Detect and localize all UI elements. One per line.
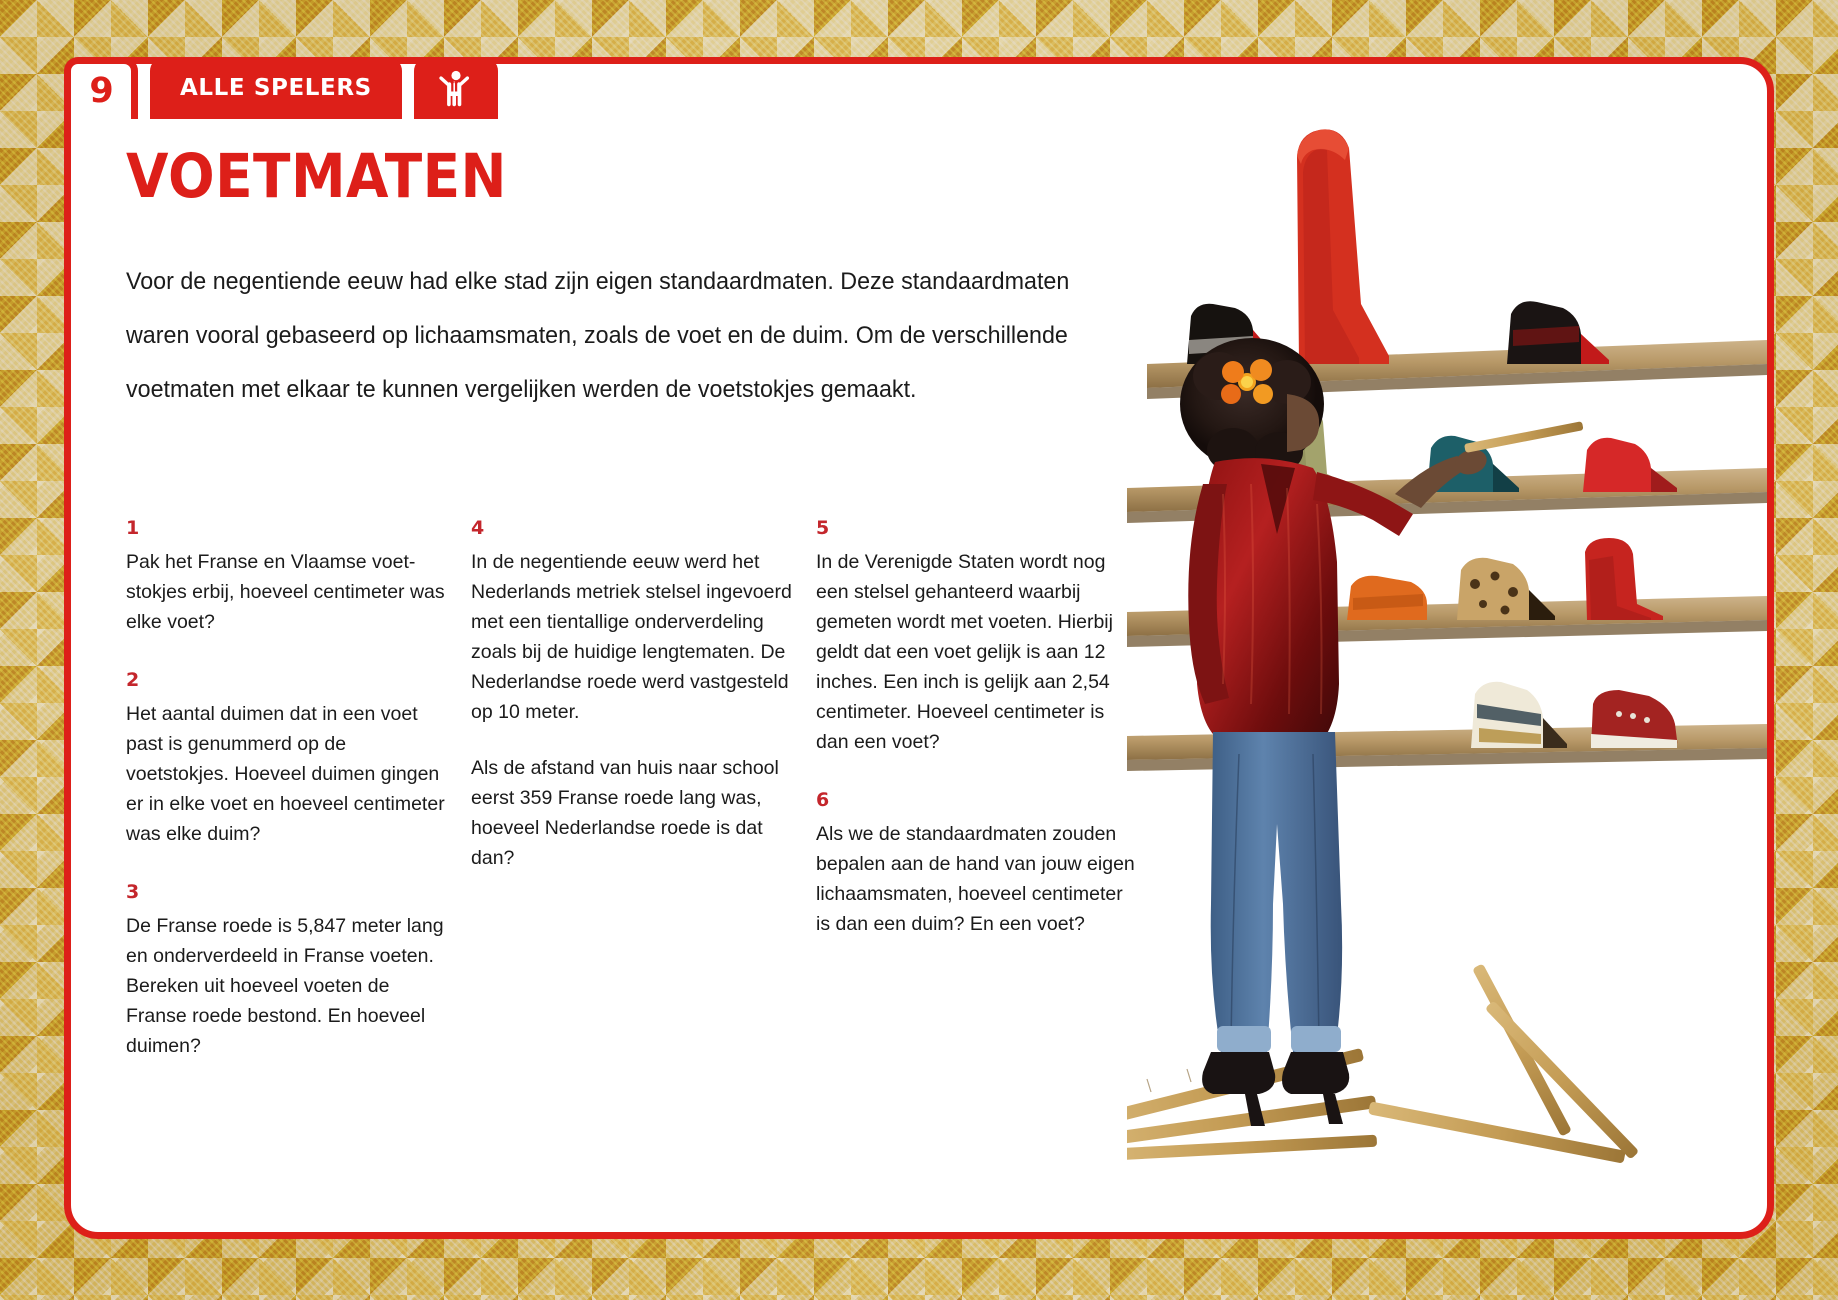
all-players-figure-icon[interactable] xyxy=(414,57,498,119)
question-item-6: 6 Als we de standaardmaten zouden bepale… xyxy=(816,791,1138,939)
question-number: 4 xyxy=(471,519,793,538)
tab-alle-spelers[interactable]: ALLE SPELERS xyxy=(150,57,402,119)
question-number: 5 xyxy=(816,519,1138,538)
question-text: Als we de standaardmaten zouden bepalen … xyxy=(816,819,1138,939)
page-title: VOETMATEN xyxy=(126,146,1616,207)
page-number-tab[interactable]: 9 xyxy=(64,57,138,119)
question-text: Het aantal duimen dat in een voet past i… xyxy=(126,699,448,849)
question-text: In de negentiende eeuw werd het Nederlan… xyxy=(471,547,793,727)
question-item-5: 5 In de Verenigde Staten wordt nog een s… xyxy=(816,519,1138,757)
question-number: 1 xyxy=(126,519,448,538)
content-card: VOETMATEN Voor de negentiende eeuw had e… xyxy=(64,57,1774,1239)
question-item-3: 3 De Franse roede is 5,847 meter lang en… xyxy=(126,883,448,1061)
question-text-continued: Als de afstand van huis naar school eers… xyxy=(471,753,793,873)
question-text: De Franse roede is 5,847 meter lang en o… xyxy=(126,911,448,1061)
question-item-1: 1 Pak het Franse en Vlaamse voet-stokjes… xyxy=(126,519,448,637)
intro-paragraph: Voor de negentiende eeuw had elke stad z… xyxy=(126,255,1133,417)
question-number: 6 xyxy=(816,791,1138,810)
question-number: 2 xyxy=(126,671,448,690)
header-tab-strip: 9 ALLE SPELERS xyxy=(64,57,498,119)
card-content: VOETMATEN Voor de negentiende eeuw had e… xyxy=(71,64,1774,1239)
question-text: In de Verenigde Staten wordt nog een ste… xyxy=(816,547,1138,757)
question-item-4: 4 In de negentiende eeuw werd het Nederl… xyxy=(471,519,793,873)
question-item-2: 2 Het aantal duimen dat in een voet past… xyxy=(126,671,448,849)
question-text: Pak het Franse en Vlaamse voet-stokjes e… xyxy=(126,547,448,637)
question-column-2: 4 In de negentiende eeuw werd het Nederl… xyxy=(471,519,816,1095)
questions-columns: 1 Pak het Franse en Vlaamse voet-stokjes… xyxy=(126,519,1216,1095)
question-column-1: 1 Pak het Franse en Vlaamse voet-stokjes… xyxy=(126,519,471,1095)
question-number: 3 xyxy=(126,883,448,902)
question-column-3: 5 In de Verenigde Staten wordt nog een s… xyxy=(816,519,1161,1095)
